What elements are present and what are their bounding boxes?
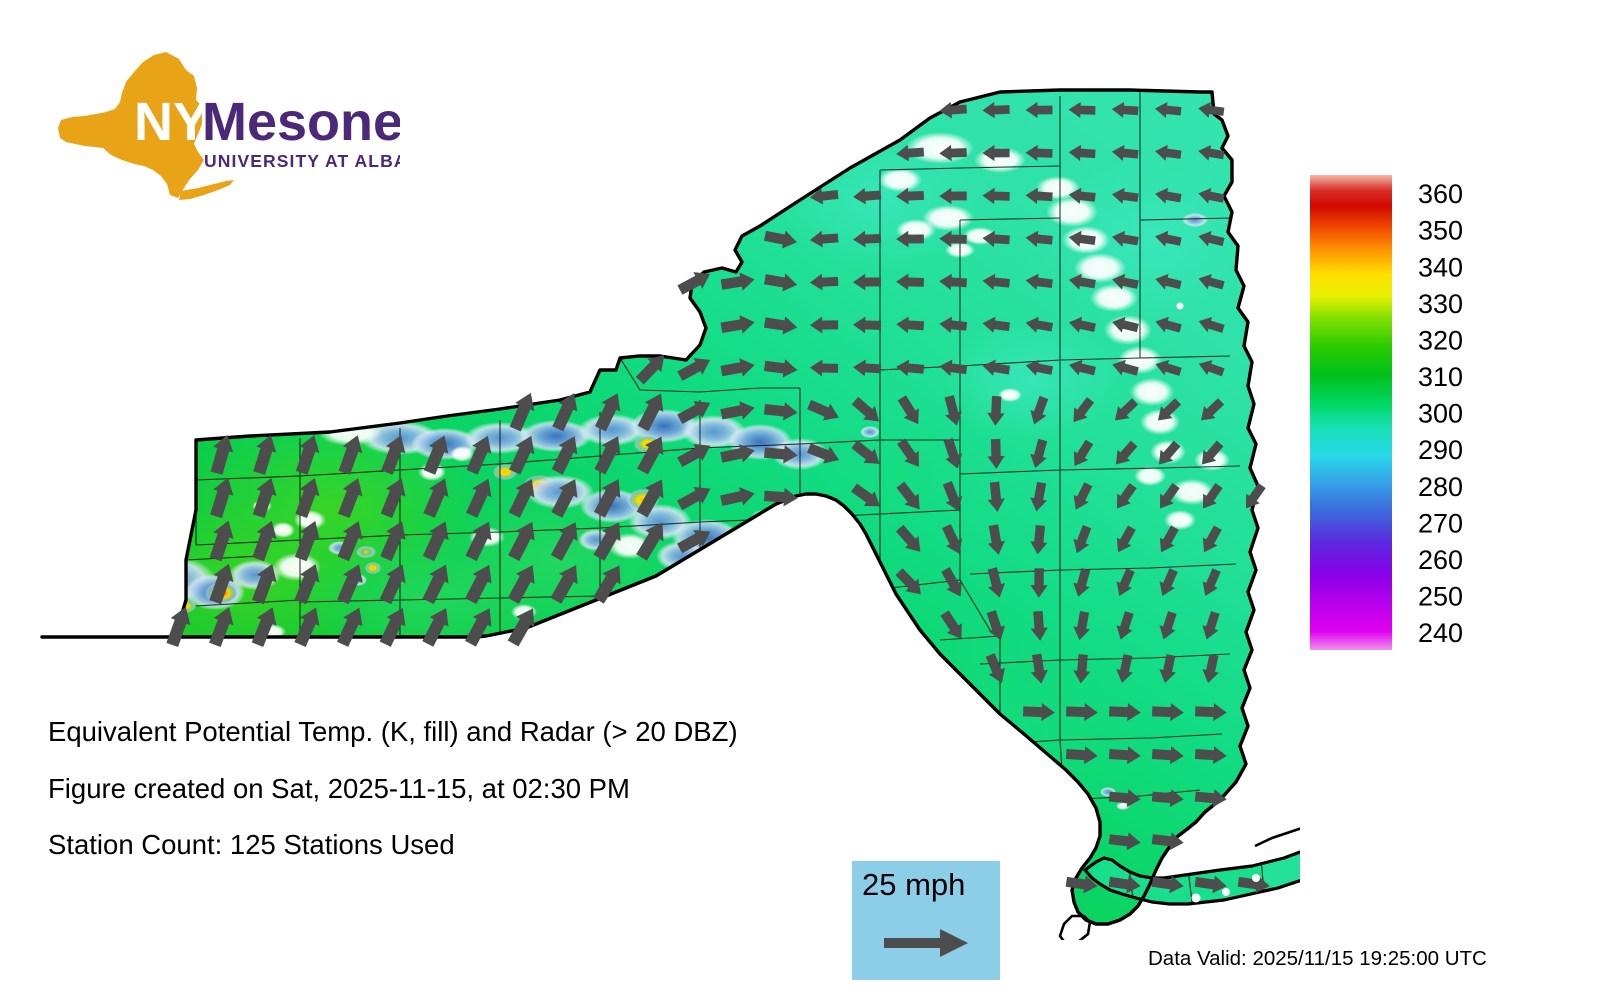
radar-echo [1182, 213, 1208, 227]
caption-title: Equivalent Potential Temp. (K, fill) and… [48, 718, 908, 746]
colorbar-tick-240: 240 [1418, 618, 1463, 648]
radar-echo [1164, 510, 1196, 530]
colorbar-tick-280: 280 [1418, 472, 1463, 502]
wind-reference-legend: 25 mph [852, 861, 1000, 980]
station-dot [1192, 894, 1201, 903]
colorbar-tick-260: 260 [1418, 545, 1463, 575]
radar-echo [609, 603, 631, 617]
radar-echo [1046, 197, 1098, 227]
colorbar-tick-320: 320 [1418, 325, 1463, 355]
radar-echo [998, 388, 1022, 402]
radar-echo-core [365, 562, 381, 574]
radar-echo [906, 132, 974, 164]
colorbar-tick-250: 250 [1418, 582, 1463, 612]
caption-station-count: Station Count: 125 Stations Used [48, 831, 908, 859]
radar-echo [450, 446, 474, 462]
cool-core-adirondack [940, 320, 1120, 440]
radar-echo [1090, 284, 1138, 312]
radar-echo [1021, 776, 1039, 788]
colorbar-tick-300: 300 [1418, 399, 1463, 429]
radar-echo [910, 724, 930, 736]
radar-echo [1130, 378, 1174, 406]
caption-created: Figure created on Sat, 2025-11-15, at 02… [48, 775, 908, 803]
radar-echo-core [132, 624, 152, 636]
colorbar-tick-310: 310 [1418, 362, 1463, 392]
radar-echo [766, 524, 818, 556]
colorbar-tick-labels: 360350340330320310300290280270260250240 [1418, 179, 1463, 648]
radar-echo-core [356, 546, 376, 558]
station-dot [1252, 874, 1260, 882]
radar-echo [78, 576, 162, 624]
colorbar-tick-270: 270 [1418, 508, 1463, 538]
wind-legend-label: 25 mph [862, 867, 965, 903]
weather-map-figure: NYS Mesonet UNIVERSITY AT ALBANY [0, 0, 1600, 1000]
station-dot [1222, 888, 1230, 896]
radar-echo [860, 426, 880, 438]
colorbar-panel: 360350340330320310300290280270260250240 [1300, 165, 1600, 665]
caption-block: Equivalent Potential Temp. (K, fill) and… [48, 718, 908, 859]
data-valid-timestamp: Data Valid: 2025/11/15 19:25:00 UTC [1148, 947, 1487, 971]
north-fork-outline [1255, 814, 1300, 846]
right-arrow-icon [884, 927, 970, 959]
colorbar-tick-290: 290 [1418, 435, 1463, 465]
colorbar-svg: 360350340330320310300290280270260250240 [1300, 165, 1600, 665]
colorbar-tick-350: 350 [1418, 216, 1463, 246]
radar-echo [1134, 466, 1166, 486]
colorbar-tick-330: 330 [1418, 289, 1463, 319]
station-dot [1177, 303, 1184, 310]
colorbar-tick-360: 360 [1418, 179, 1463, 209]
radar-echo [1038, 795, 1054, 805]
radar-echo [722, 530, 782, 566]
radar-echo [878, 168, 922, 192]
colorbar-gradient [1310, 175, 1392, 650]
colorbar-tick-340: 340 [1418, 252, 1463, 282]
